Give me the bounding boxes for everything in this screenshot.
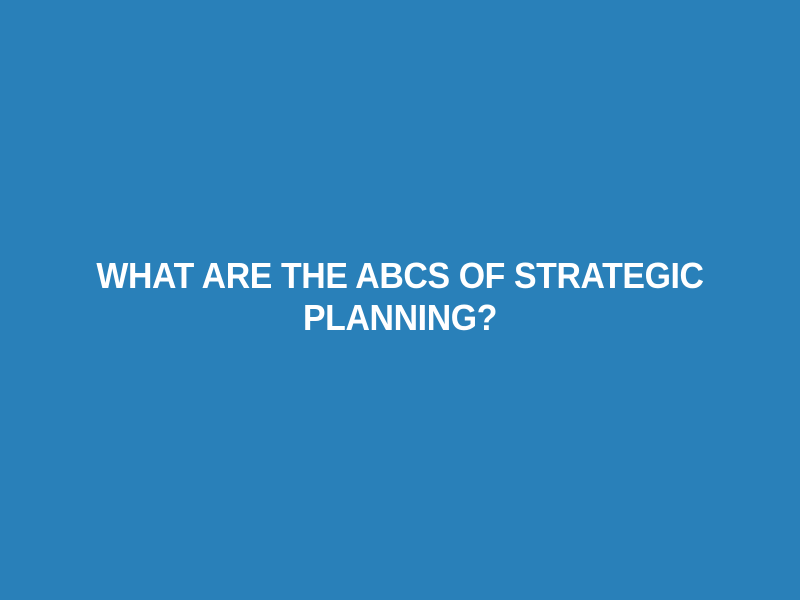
banner-heading: What are the ABCs of Strategic Planning? [24, 255, 776, 339]
banner-canvas: What are the ABCs of Strategic Planning? [0, 0, 800, 600]
